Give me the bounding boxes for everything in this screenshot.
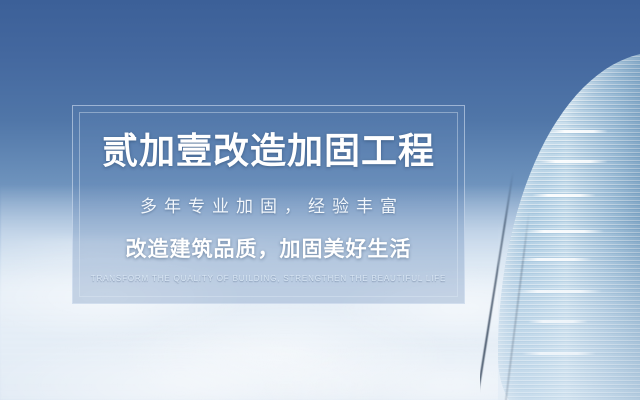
hero-banner: 贰加壹改造加固工程 多年专业加固，经验丰富 改造建筑品质，加固美好生活 TRAN… xyxy=(0,0,640,400)
tower-window-highlight xyxy=(532,194,596,197)
banner-subtitle: 多年专业加固，经验丰富 xyxy=(133,192,404,217)
text-panel: 贰加壹改造加固工程 多年专业加固，经验丰富 改造建筑品质，加固美好生活 TRAN… xyxy=(72,105,465,304)
tower-atmospheric-haze xyxy=(498,222,640,400)
tower-body xyxy=(498,52,640,400)
banner-tagline: 改造建筑品质，加固美好生活 xyxy=(126,233,412,263)
tower-window-highlight xyxy=(538,160,608,163)
banner-title: 贰加壹改造加固工程 xyxy=(102,132,435,170)
panel-content: 贰加壹改造加固工程 多年专业加固，经验丰富 改造建筑品质，加固美好生活 TRAN… xyxy=(73,106,464,303)
skyscraper-image xyxy=(480,0,640,400)
tower-window-highlight xyxy=(550,130,608,133)
banner-english-caption: TRANSFORM THE QUALITY OF BUILDING, STREN… xyxy=(91,274,446,283)
